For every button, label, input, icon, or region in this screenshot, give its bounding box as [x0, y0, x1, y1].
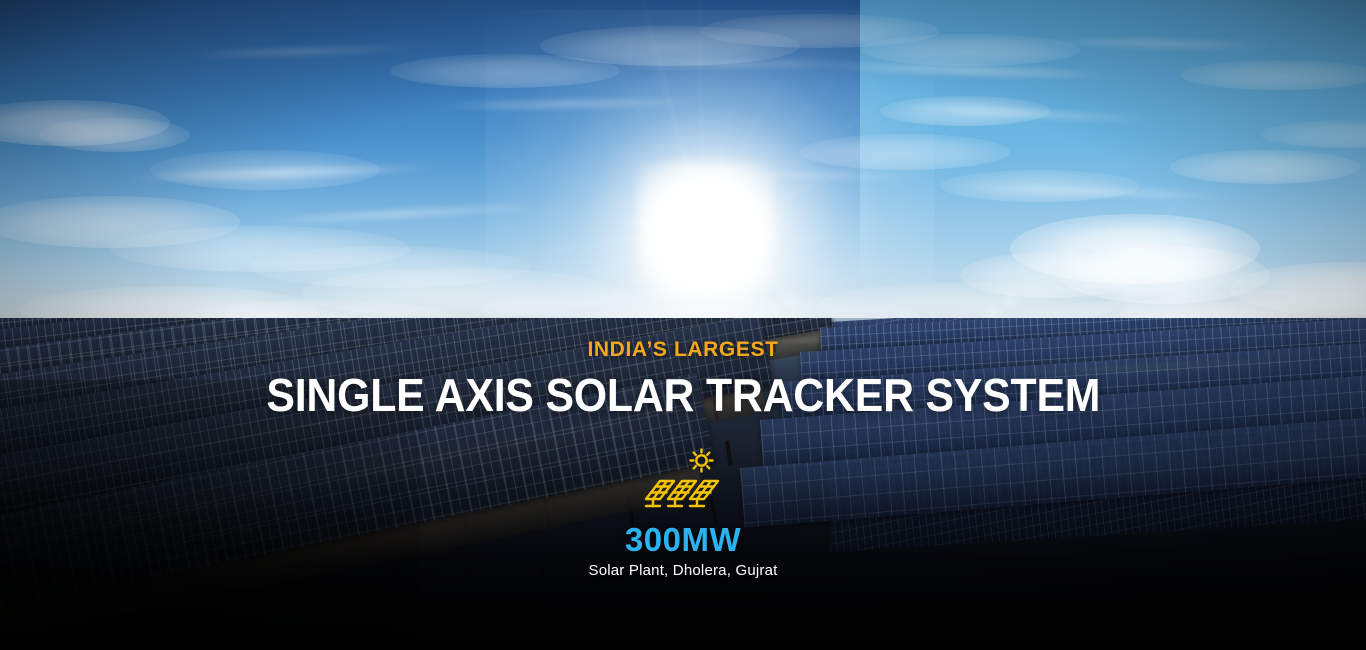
page-title: SINGLE AXIS SOLAR TRACKER SYSTEM [266, 368, 1100, 422]
eyebrow-text: INDIA’S LARGEST [587, 338, 778, 362]
capacity-value: 300MW [625, 521, 741, 559]
panel-support-leg [538, 565, 549, 600]
solar-panel-array-with-sun-icon [640, 448, 726, 514]
panel-support-leg [465, 565, 476, 600]
plant-location: Solar Plant, Dholera, Gujrat [588, 562, 777, 579]
capacity-badge: 300MW Solar Plant, Dholera, Gujrat [588, 448, 777, 579]
panel-support-leg [393, 565, 404, 600]
sky-right-tint [860, 0, 1366, 300]
hero-banner: INDIA’S LARGEST SINGLE AXIS SOLAR TRACKE… [0, 0, 1366, 650]
